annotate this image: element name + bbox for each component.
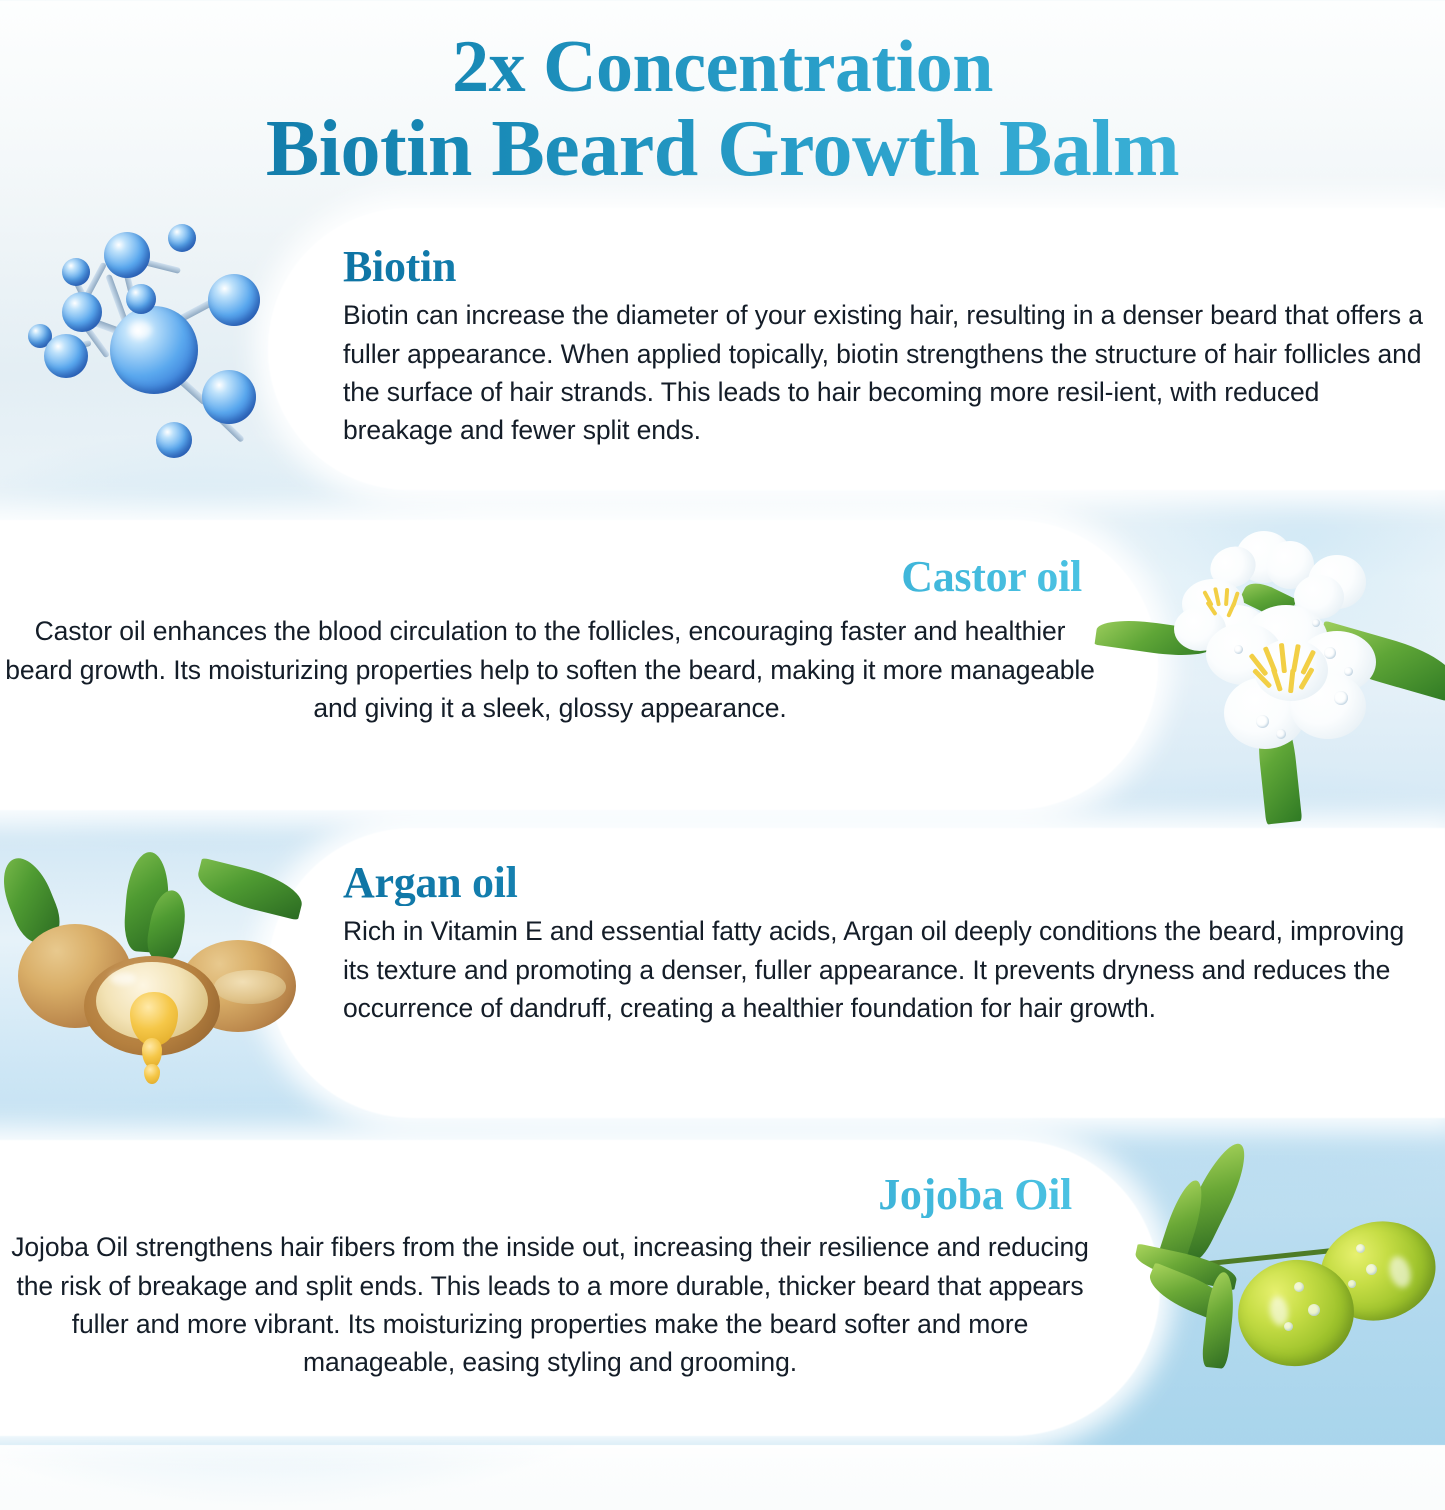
card-content: Argan oil Rich in Vitamin E and essentia… bbox=[343, 860, 1413, 1027]
card-body: Jojoba Oil strengthens hair fibers from … bbox=[0, 1228, 1100, 1382]
card-content: Castor oil Castor oil enhances the blood… bbox=[0, 554, 1100, 727]
card-body: Biotin can increase the diameter of your… bbox=[343, 296, 1428, 450]
card-body: Castor oil enhances the blood circulatio… bbox=[0, 612, 1100, 727]
card-content: Biotin Biotin can increase the diameter … bbox=[343, 244, 1428, 450]
argan-nut-icon bbox=[0, 852, 312, 1108]
card-heading: Castor oil bbox=[0, 554, 1100, 600]
card-content: Jojoba Oil Jojoba Oil strengthens hair f… bbox=[0, 1172, 1100, 1382]
title-line-2: Biotin Beard Growth Balm bbox=[0, 109, 1445, 191]
card-heading: Argan oil bbox=[343, 860, 1413, 906]
page-title: 2x Concentration Biotin Beard Growth Bal… bbox=[0, 30, 1445, 191]
jasmine-flower-icon bbox=[1148, 527, 1445, 807]
card-heading: Biotin bbox=[343, 244, 1428, 290]
molecule-icon bbox=[18, 214, 298, 482]
olive-icon bbox=[1142, 1136, 1445, 1420]
card-body: Rich in Vitamin E and essential fatty ac… bbox=[343, 912, 1413, 1027]
title-line-1: 2x Concentration bbox=[0, 30, 1445, 105]
card-heading: Jojoba Oil bbox=[0, 1172, 1100, 1218]
